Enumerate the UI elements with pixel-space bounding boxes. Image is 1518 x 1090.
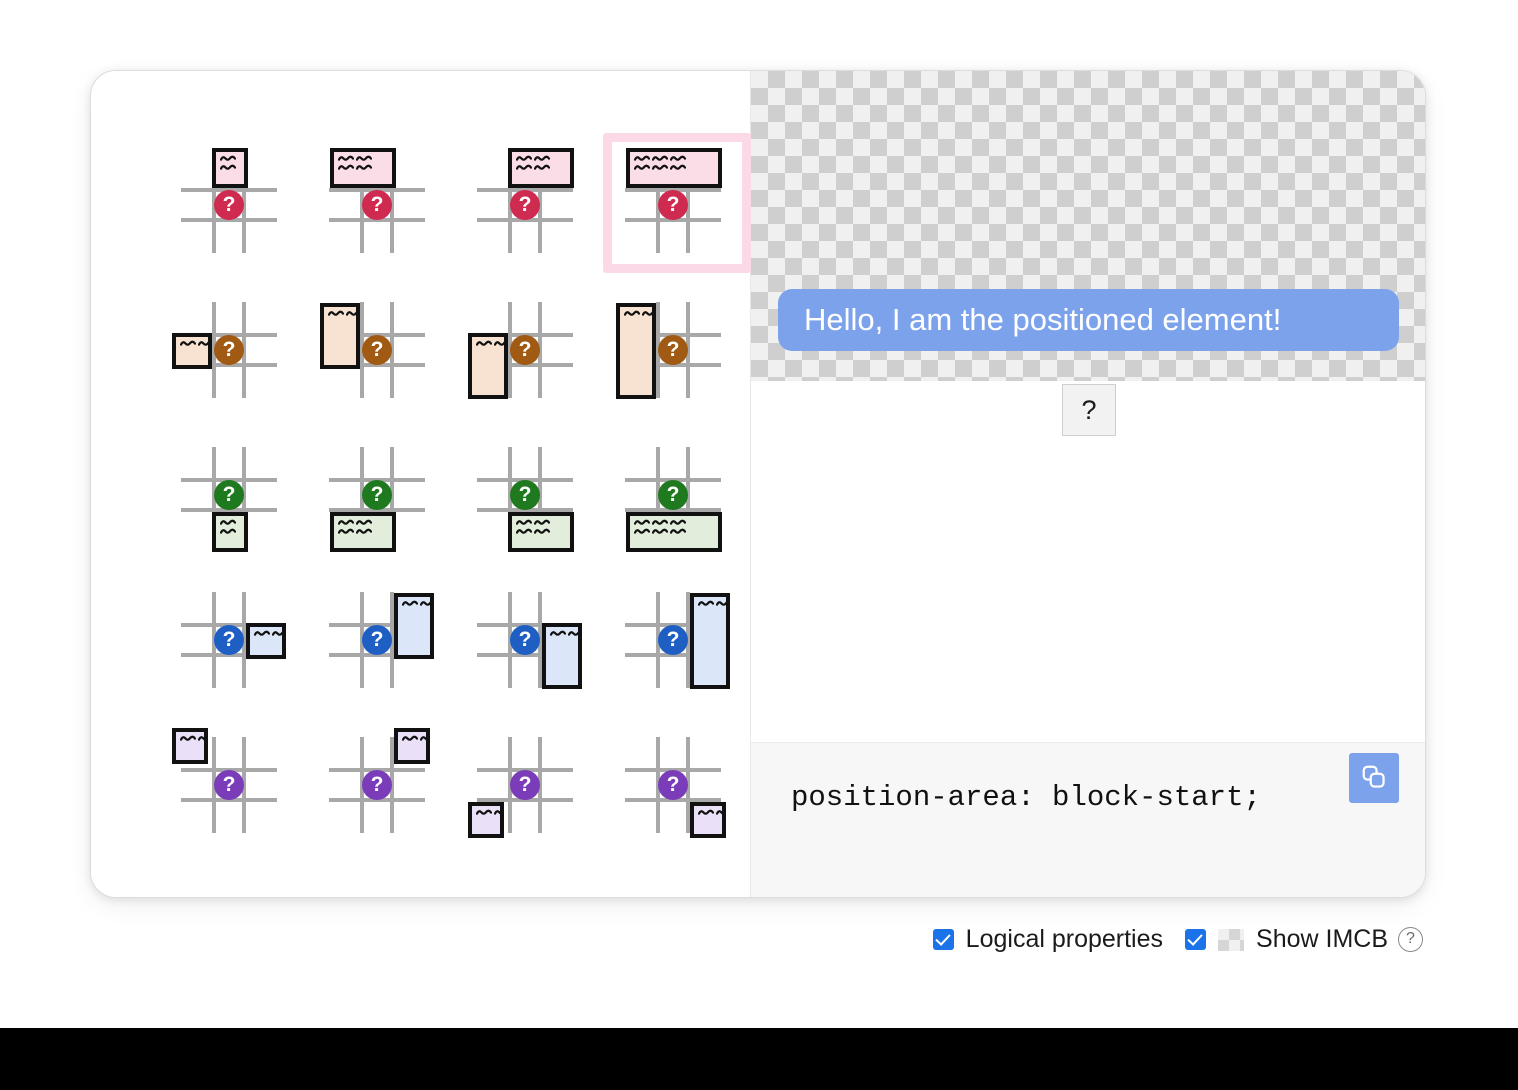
anchor-marker-icon: ? — [362, 335, 392, 365]
position-area-cell[interactable]: ? — [603, 713, 751, 853]
show-imcb-label: Show IMCB — [1256, 925, 1388, 954]
anchor-marker-icon: ? — [362, 625, 392, 655]
anchor-marker-icon: ? — [362, 480, 392, 510]
anchor-marker-icon: ? — [510, 190, 540, 220]
position-area-cell[interactable]: ? — [159, 713, 307, 853]
help-icon[interactable]: ? — [1398, 927, 1423, 952]
positioned-box — [542, 623, 582, 689]
position-area-cell[interactable]: ? — [307, 278, 455, 418]
squiggle-icon — [338, 164, 354, 171]
position-area-cell[interactable]: ? — [307, 713, 455, 853]
anchor-element[interactable]: ? — [1062, 384, 1116, 436]
squiggle-icon — [516, 519, 532, 526]
positioned-box — [330, 148, 396, 188]
squiggle-icon — [534, 528, 550, 535]
position-area-cell[interactable]: ? — [455, 133, 603, 273]
positioned-box — [320, 303, 360, 369]
squiggle-icon — [338, 519, 354, 526]
anchor-marker-icon: ? — [510, 480, 540, 510]
positioned-box — [626, 512, 722, 552]
copy-icon — [1360, 763, 1388, 794]
anchor-marker-icon: ? — [510, 335, 540, 365]
squiggle-icon — [634, 164, 650, 171]
squiggle-icon — [420, 600, 434, 607]
anchor-marker-icon: ? — [658, 480, 688, 510]
squiggle-icon — [198, 735, 208, 742]
squiggle-icon — [420, 735, 430, 742]
positioned-box — [212, 148, 248, 188]
position-area-cell[interactable]: ? — [307, 423, 455, 563]
squiggle-icon — [494, 809, 504, 816]
squiggle-icon — [670, 519, 686, 526]
squiggle-icon — [220, 164, 236, 171]
positioned-box — [246, 623, 286, 659]
squiggle-icon — [180, 735, 196, 742]
positioned-box — [616, 303, 656, 399]
anchor-marker-icon: ? — [658, 770, 688, 800]
squiggle-icon — [550, 630, 566, 637]
squiggle-icon — [568, 630, 582, 637]
positioned-box — [172, 728, 208, 764]
squiggle-icon — [476, 809, 492, 816]
squiggle-icon — [356, 519, 372, 526]
squiggle-icon — [652, 528, 668, 535]
squiggle-icon — [220, 155, 236, 162]
squiggle-icon — [534, 164, 550, 171]
anchor-marker-icon: ? — [214, 625, 244, 655]
code-declaration: position-area: block-start; — [791, 781, 1261, 814]
anchor-marker-icon: ? — [510, 770, 540, 800]
positioned-box — [690, 593, 730, 689]
squiggle-icon — [642, 310, 656, 317]
squiggle-icon — [634, 528, 650, 535]
logical-properties-checkbox[interactable] — [933, 929, 954, 950]
imcb-checkerboard: Hello, I am the positioned element! — [751, 71, 1425, 381]
squiggle-icon — [670, 155, 686, 162]
anchor-marker-icon: ? — [214, 480, 244, 510]
positioned-box — [394, 593, 434, 659]
squiggle-icon — [356, 528, 372, 535]
squiggle-icon — [698, 809, 714, 816]
position-area-cell[interactable]: ? — [455, 423, 603, 563]
positioned-box — [690, 802, 726, 838]
squiggle-icon — [476, 340, 492, 347]
squiggle-icon — [402, 600, 418, 607]
squiggle-icon — [670, 528, 686, 535]
squiggle-icon — [652, 519, 668, 526]
positioned-box — [468, 802, 504, 838]
position-area-cell[interactable]: ? — [455, 568, 603, 708]
anchor-marker-icon: ? — [362, 770, 392, 800]
app-root: ???????????????????? Hello, I am the pos… — [0, 0, 1518, 1090]
code-output-panel: position-area: block-start; — [751, 742, 1425, 897]
anchor-marker-icon: ? — [214, 335, 244, 365]
position-area-cell[interactable]: ? — [455, 713, 603, 853]
squiggle-icon — [180, 340, 196, 347]
squiggle-icon — [716, 600, 730, 607]
anchor-marker-icon: ? — [658, 190, 688, 220]
positioned-box — [468, 333, 508, 399]
options-bar: Logical properties Show IMCB ? — [933, 925, 1423, 954]
squiggle-icon — [634, 155, 650, 162]
squiggle-icon — [634, 519, 650, 526]
position-area-cell[interactable]: ? — [455, 278, 603, 418]
squiggle-icon — [402, 735, 418, 742]
imcb-swatch-icon — [1218, 929, 1244, 951]
position-area-cell[interactable]: ? — [159, 568, 307, 708]
squiggle-icon — [220, 528, 236, 535]
anchor-marker-icon: ? — [658, 625, 688, 655]
positioned-box — [172, 333, 212, 369]
squiggle-icon — [516, 155, 532, 162]
squiggle-icon — [494, 340, 508, 347]
squiggle-icon — [338, 528, 354, 535]
positioned-box — [508, 512, 574, 552]
positioned-box — [330, 512, 396, 552]
position-area-cell[interactable]: ? — [603, 423, 751, 563]
anchor-marker-icon: ? — [510, 625, 540, 655]
position-area-cell[interactable]: ? — [603, 133, 751, 273]
squiggle-icon — [534, 155, 550, 162]
squiggle-icon — [346, 310, 360, 317]
squiggle-icon — [652, 155, 668, 162]
squiggle-icon — [356, 164, 372, 171]
anchor-marker-icon: ? — [214, 770, 244, 800]
position-area-cell[interactable]: ? — [307, 133, 455, 273]
squiggle-icon — [516, 164, 532, 171]
squiggle-icon — [670, 164, 686, 171]
squiggle-icon — [328, 310, 344, 317]
position-area-cell[interactable]: ? — [159, 423, 307, 563]
squiggle-icon — [624, 310, 640, 317]
positioned-box — [626, 148, 722, 188]
logical-properties-label: Logical properties — [966, 925, 1163, 954]
squiggle-icon — [698, 600, 714, 607]
squiggle-icon — [516, 528, 532, 535]
visualizer-card: ???????????????????? Hello, I am the pos… — [90, 70, 1426, 898]
position-area-cell[interactable]: ? — [307, 568, 455, 708]
position-area-cell[interactable]: ? — [159, 278, 307, 418]
position-area-cell[interactable]: ? — [603, 568, 751, 708]
position-area-panel: ???????????????????? — [91, 71, 751, 897]
squiggle-icon — [220, 519, 236, 526]
show-imcb-checkbox[interactable] — [1185, 929, 1206, 950]
squiggle-icon — [534, 519, 550, 526]
squiggle-icon — [198, 340, 212, 347]
positioned-box — [212, 512, 248, 552]
squiggle-icon — [254, 630, 270, 637]
squiggle-icon — [272, 630, 286, 637]
anchor-marker-icon: ? — [658, 335, 688, 365]
preview-panel: Hello, I am the positioned element! ? po… — [751, 71, 1425, 897]
copy-code-button[interactable] — [1349, 753, 1399, 803]
position-area-cell[interactable]: ? — [603, 278, 751, 418]
squiggle-icon — [716, 809, 726, 816]
anchor-marker-icon: ? — [214, 190, 244, 220]
squiggle-icon — [356, 155, 372, 162]
positioned-box — [394, 728, 430, 764]
letterbox-bar — [0, 1028, 1518, 1090]
anchor-marker-icon: ? — [362, 190, 392, 220]
positioned-element-bubble: Hello, I am the positioned element! — [778, 289, 1399, 351]
squiggle-icon — [652, 164, 668, 171]
positioned-box — [508, 148, 574, 188]
position-area-cell[interactable]: ? — [159, 133, 307, 273]
position-area-grid[interactable]: ???????????????????? — [159, 133, 751, 853]
squiggle-icon — [338, 155, 354, 162]
